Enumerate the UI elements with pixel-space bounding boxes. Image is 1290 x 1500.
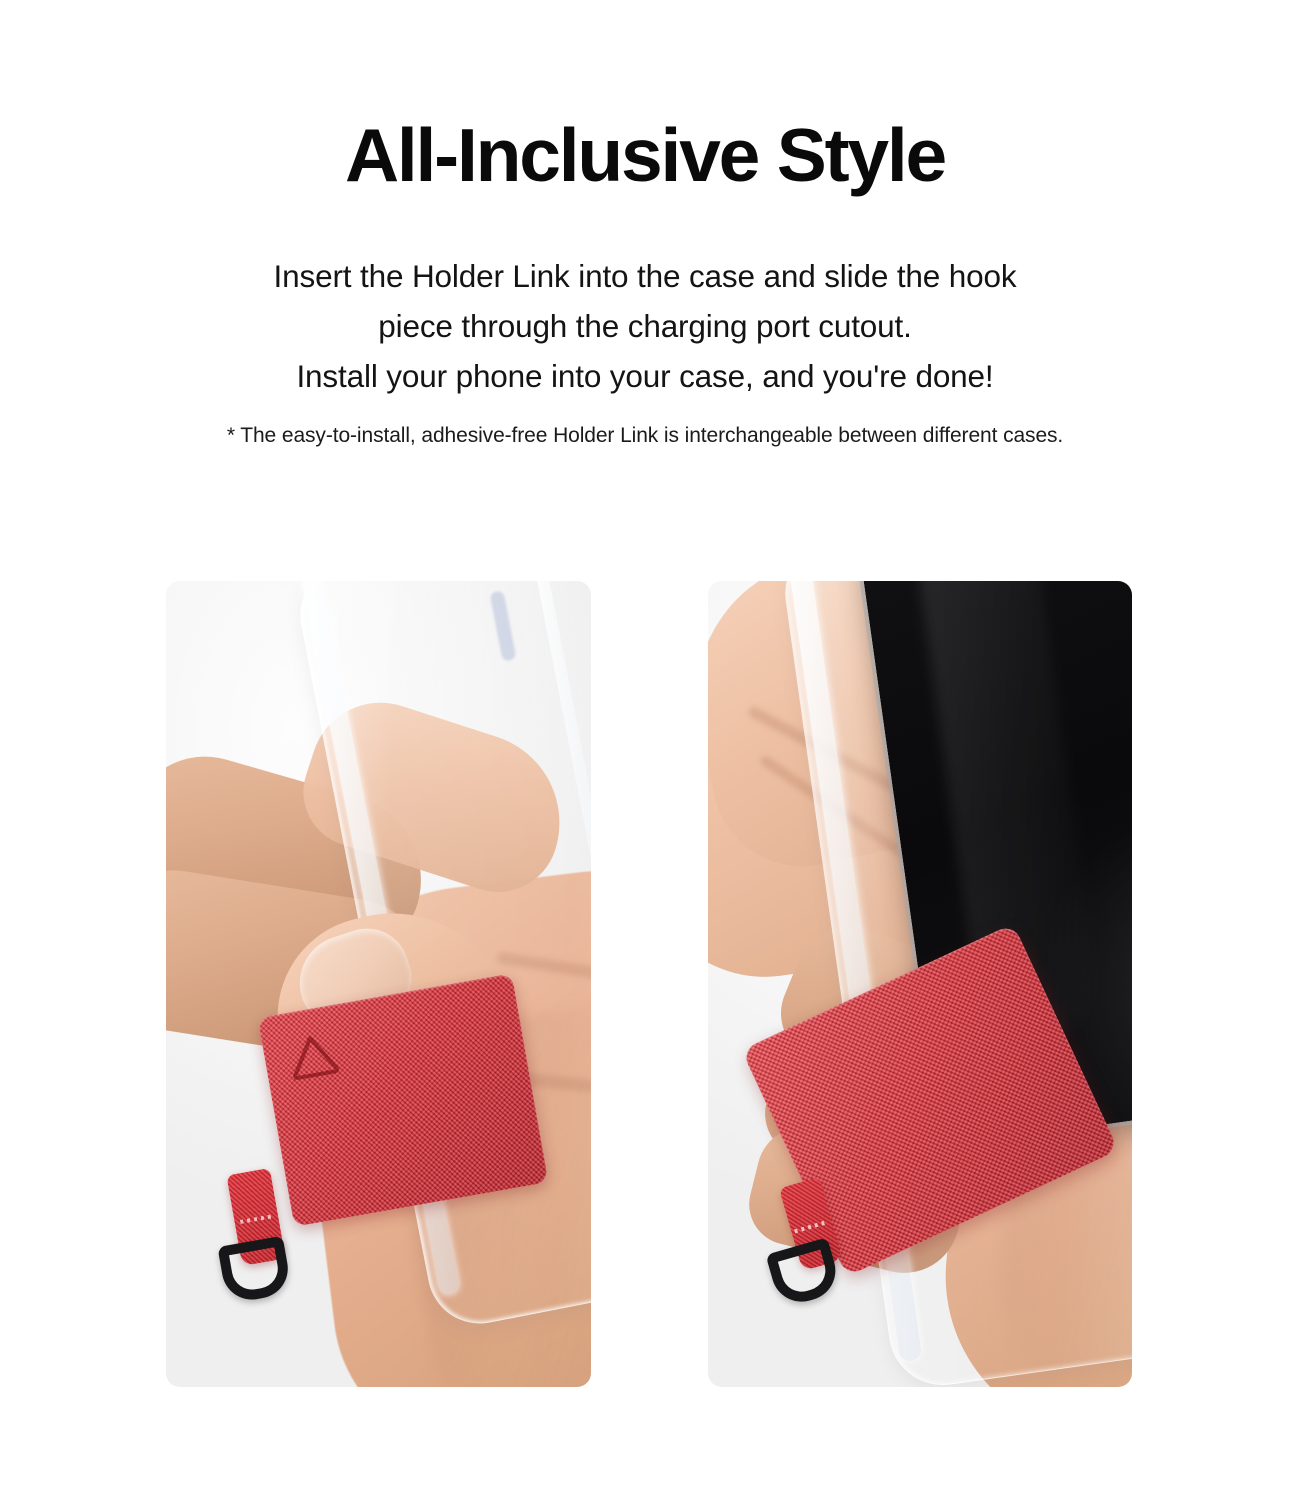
page-title: All-Inclusive Style	[0, 118, 1290, 193]
hero-description-line-3: Install your phone into your case, and y…	[140, 351, 1150, 401]
hero-description-line-2: piece through the charging port cutout.	[140, 301, 1150, 351]
holder-link-red-panel	[258, 973, 549, 1227]
hero-text-block: All-Inclusive Style Insert the Holder Li…	[0, 0, 1290, 448]
product-image-gallery	[126, 565, 1172, 1371]
hero-description: Insert the Holder Link into the case and…	[140, 251, 1150, 401]
product-photo-install-phone	[708, 581, 1133, 1387]
ringke-triangle-logo-icon	[285, 1029, 342, 1081]
product-photo-insert-holder-link	[166, 581, 591, 1387]
hero-description-line-1: Insert the Holder Link into the case and…	[140, 251, 1150, 301]
hero-footnote: * The easy-to-install, adhesive-free Hol…	[0, 424, 1290, 448]
